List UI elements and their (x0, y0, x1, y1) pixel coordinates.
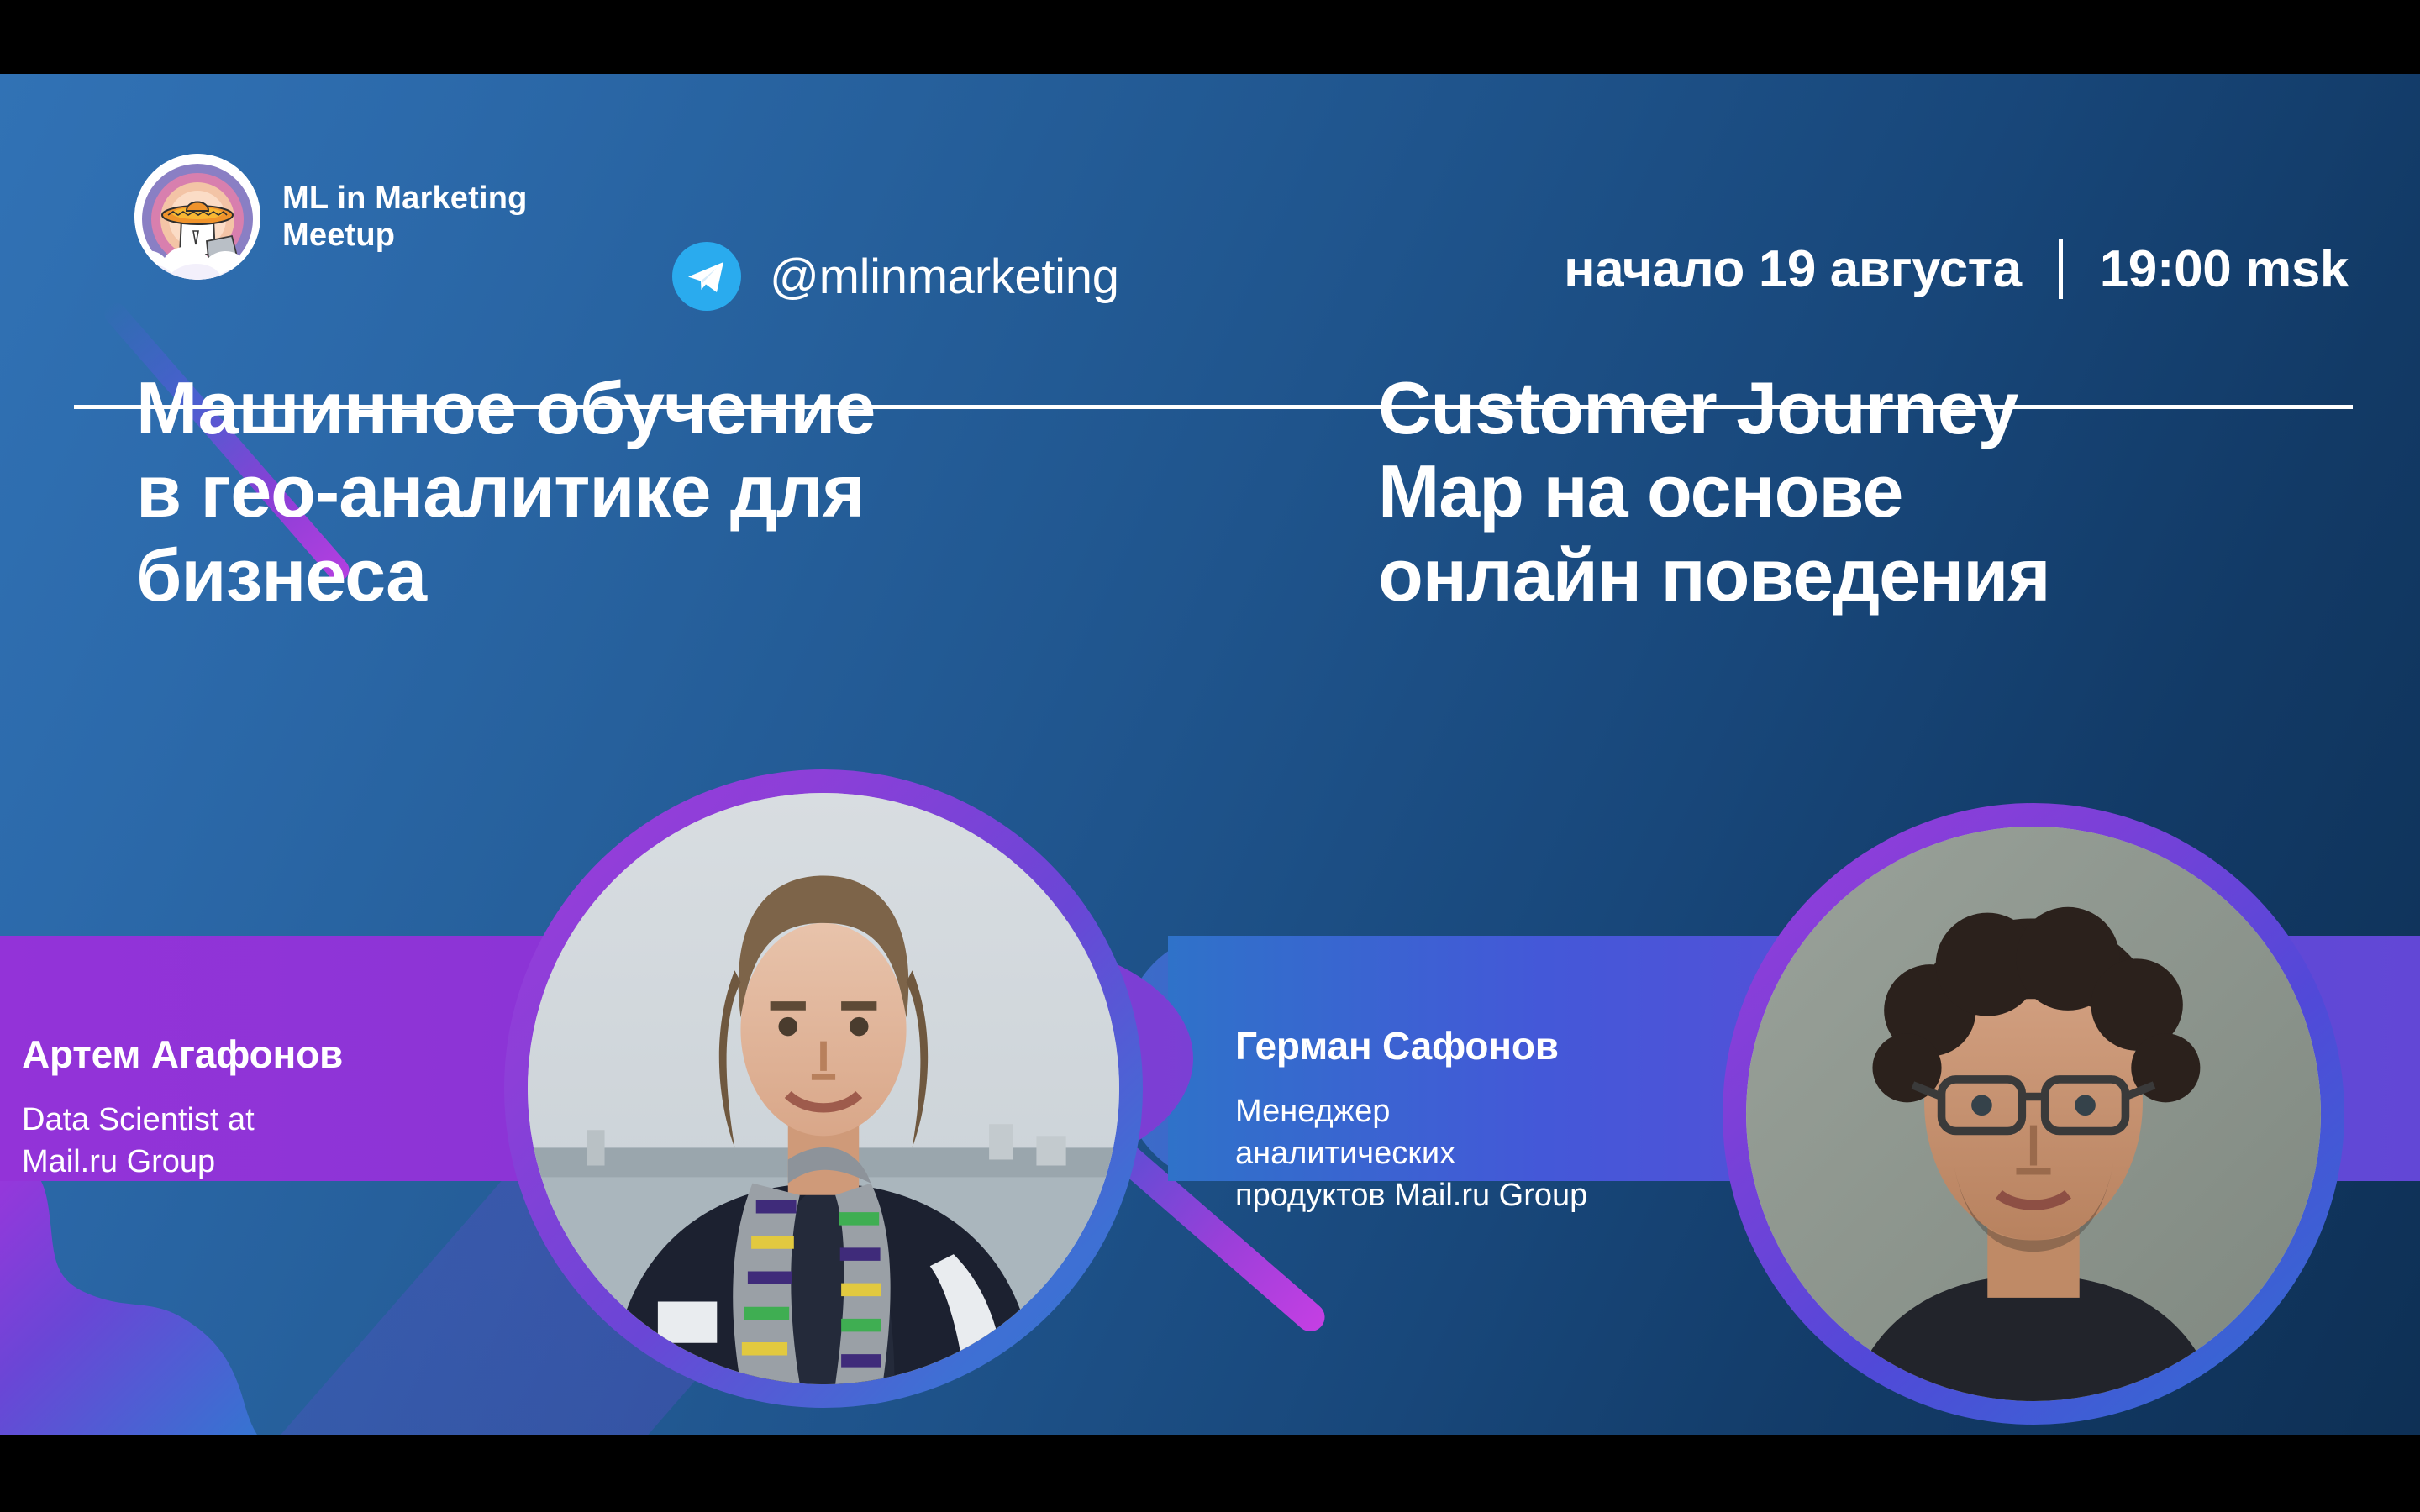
speaker-name-right: Герман Сафонов (1235, 1023, 1587, 1068)
avatar-german-safonov (1723, 803, 2344, 1425)
avatar-artem-agafonov (504, 769, 1143, 1408)
portrait-photo-right (1746, 827, 2321, 1401)
speaker-info-left: Артем Агафонов Data Scientist at Mail.ru… (22, 1032, 343, 1183)
speaker-role-left: Data Scientist at Mail.ru Group (22, 1099, 343, 1183)
speaker-role-right: Менеджер аналитических продуктов Mail.ru… (1235, 1090, 1587, 1216)
portrait-photo-left (528, 793, 1119, 1384)
promo-banner: ML in Marketing Meetup @mlinmarketing на… (0, 74, 2420, 1435)
speaker-info-right: Герман Сафонов Менеджер аналитических пр… (1235, 1023, 1587, 1216)
talk-title-right: Customer Journey Map на основе онлайн по… (1378, 366, 2370, 617)
talk-title-left: Машинное обучение в гео-аналитике для би… (136, 366, 1144, 617)
screenshot-frame: ML in Marketing Meetup @mlinmarketing на… (0, 0, 2420, 1512)
speaker-name-left: Артем Агафонов (22, 1032, 343, 1077)
